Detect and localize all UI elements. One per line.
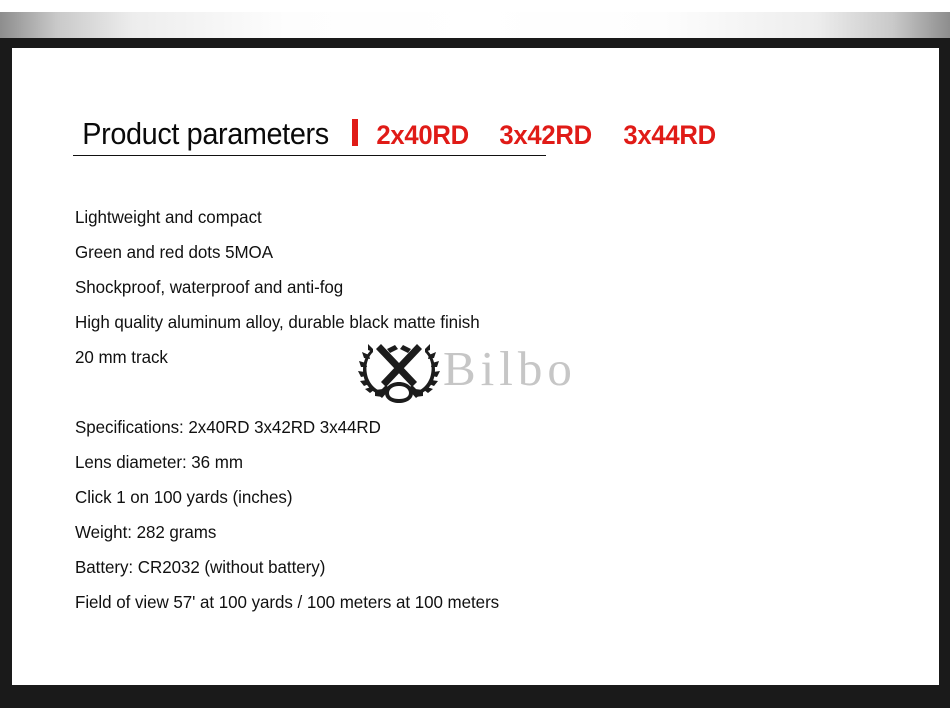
heading-separator-bar (352, 119, 358, 146)
variant-label-2: 3x42RD (500, 120, 592, 151)
page-canvas: Product parameters 2x40RD 3x42RD 3x44RD … (12, 48, 939, 685)
black-page-frame: Product parameters 2x40RD 3x42RD 3x44RD … (0, 38, 950, 708)
features-list: Lightweight and compact Green and red do… (75, 200, 492, 375)
feature-item: Lightweight and compact (75, 200, 480, 235)
feature-item: Shockproof, waterproof and anti-fog (75, 270, 480, 305)
heading-underline (73, 155, 546, 156)
specification-item: Field of view 57' at 100 yards / 100 met… (75, 585, 499, 620)
product-parameters-page: Product parameters 2x40RD 3x42RD 3x44RD … (0, 0, 950, 708)
feature-item: 20 mm track (75, 340, 480, 375)
specification-item: Lens diameter: 36 mm (75, 445, 499, 480)
page-heading: Product parameters 2x40RD 3x42RD 3x44RD (73, 116, 718, 152)
specifications-list: Specifications: 2x40RD 3x42RD 3x44RD Len… (75, 410, 512, 620)
variant-label-3: 3x44RD (623, 120, 715, 151)
page-title: Product parameters (82, 116, 328, 152)
top-gloss-gradient (0, 12, 950, 38)
top-gloss-strip (0, 0, 950, 38)
specification-item: Specifications: 2x40RD 3x42RD 3x44RD (75, 410, 499, 445)
specification-item: Click 1 on 100 yards (inches) (75, 480, 499, 515)
specification-item: Weight: 282 grams (75, 515, 499, 550)
feature-item: High quality aluminum alloy, durable bla… (75, 305, 480, 340)
feature-item: Green and red dots 5MOA (75, 235, 480, 270)
specification-item: Battery: CR2032 (without battery) (75, 550, 499, 585)
variant-label-1: 2x40RD (376, 120, 468, 151)
page-content: Product parameters 2x40RD 3x42RD 3x44RD … (12, 48, 938, 685)
